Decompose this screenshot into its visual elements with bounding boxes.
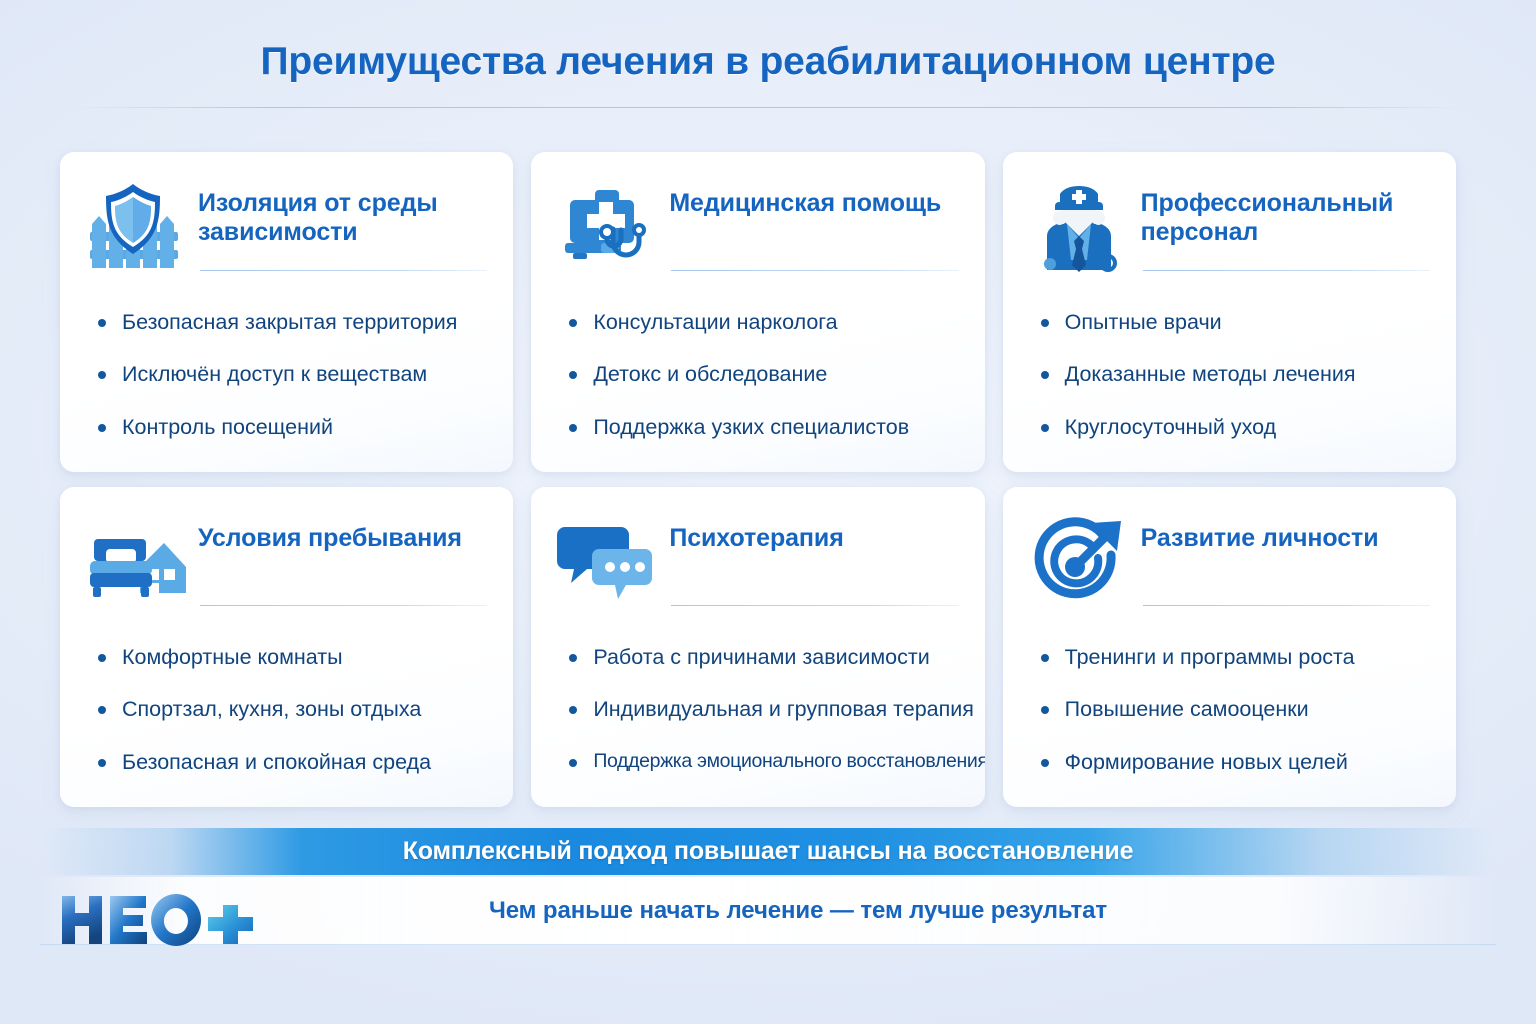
list-item-label: Круглосуточный уход — [1065, 415, 1277, 439]
bed-house-icon — [86, 515, 186, 609]
list-item-label: Повышение самооценки — [1065, 697, 1309, 721]
bullet-dot — [569, 706, 577, 714]
bullet-dot — [98, 759, 106, 767]
list-item-label: Опытные врачи — [1065, 310, 1222, 334]
list-item: Тренинги и программы роста — [1041, 645, 1430, 670]
list-item: Контроль посещений — [98, 415, 487, 440]
list-item-label: Исключён доступ к веществам — [122, 362, 427, 386]
shield-fence-icon — [86, 180, 186, 274]
list-item-label: Безопасная закрытая территория — [122, 310, 457, 334]
list-item: Опытные врачи — [1041, 310, 1430, 335]
list-item: Детокс и обследование — [569, 362, 958, 387]
card-title: Изоляция от среды зависимости — [198, 180, 487, 248]
list-item-label: Спортзал, кухня, зоны отдыха — [122, 697, 421, 721]
page-title: Преимущества лечения в реабилитационном … — [0, 0, 1536, 84]
benefit-card-living-conditions[interactable]: Условия пребывания Комфортные комнаты Сп… — [60, 487, 513, 807]
card-title: Профессиональный персонал — [1141, 180, 1430, 248]
benefit-card-psychotherapy[interactable]: Психотерапия Работа с причинами зависимо… — [531, 487, 984, 807]
card-header: Развитие личности — [1029, 515, 1430, 609]
card-divider — [671, 270, 958, 271]
speech-bubbles-icon — [557, 515, 657, 609]
list-item-label: Поддержка эмоционального восстановления — [593, 750, 984, 772]
list-item: Доказанные методы лечения — [1041, 362, 1430, 387]
bullet-dot — [1041, 759, 1049, 767]
bullet-dot — [98, 371, 106, 379]
list-item: Комфортные комнаты — [98, 645, 487, 670]
list-item-label: Комфортные комнаты — [122, 645, 343, 669]
benefit-list: Работа с причинами зависимости Индивидуа… — [557, 645, 958, 773]
card-divider — [671, 605, 958, 606]
list-item: Безопасная закрытая территория — [98, 310, 487, 335]
list-item-label: Работа с причинами зависимости — [593, 645, 929, 669]
benefit-list: Комфортные комнаты Спортзал, кухня, зоны… — [86, 645, 487, 775]
bullet-dot — [1041, 706, 1049, 714]
list-item-label: Поддержка узких специалистов — [593, 415, 909, 439]
card-header: Изоляция от среды зависимости — [86, 180, 487, 274]
list-item-label: Безопасная и спокойная среда — [122, 750, 431, 774]
benefit-list: Тренинги и программы роста Повышение сам… — [1029, 645, 1430, 775]
bullet-dot — [569, 654, 577, 662]
benefits-grid: Изоляция от среды зависимости Безопасная… — [60, 152, 1456, 807]
list-item: Поддержка узких специалистов — [569, 415, 958, 440]
bullet-dot — [98, 706, 106, 714]
card-title: Психотерапия — [669, 515, 843, 553]
bullet-dot — [569, 424, 577, 432]
bullet-dot — [98, 654, 106, 662]
list-item: Исключён доступ к веществам — [98, 362, 487, 387]
list-item-label: Консультации нарколога — [593, 310, 837, 334]
card-header: Психотерапия — [557, 515, 958, 609]
title-divider — [72, 107, 1464, 108]
list-item: Формирование новых целей — [1041, 750, 1430, 775]
list-item: Индивидуальная и групповая терапия — [569, 697, 958, 722]
list-item-label: Детокс и обследование — [593, 362, 827, 386]
benefit-list: Опытные врачи Доказанные методы лечения … — [1029, 310, 1430, 440]
list-item: Работа с причинами зависимости — [569, 645, 958, 670]
footer-banner: Комплексный подход повышает шансы на вос… — [40, 828, 1496, 875]
list-item: Круглосуточный уход — [1041, 415, 1430, 440]
neo-plus-logo — [58, 892, 258, 948]
medical-kit-stethoscope-icon — [557, 180, 657, 274]
benefit-card-professional-staff[interactable]: Профессиональный персонал Опытные врачи … — [1003, 152, 1456, 472]
bullet-dot — [1041, 424, 1049, 432]
benefit-list: Безопасная закрытая территория Исключён … — [86, 310, 487, 440]
benefit-card-personal-growth[interactable]: Развитие личности Тренинги и программы р… — [1003, 487, 1456, 807]
card-header: Медицинская помощь — [557, 180, 958, 274]
list-item-label: Доказанные методы лечения — [1065, 362, 1356, 386]
card-title: Развитие личности — [1141, 515, 1379, 553]
bullet-dot — [1041, 654, 1049, 662]
bullet-dot — [569, 759, 577, 767]
card-divider — [200, 605, 487, 606]
list-item-label: Формирование новых целей — [1065, 750, 1348, 774]
list-item: Спортзал, кухня, зоны отдыха — [98, 697, 487, 722]
card-header: Условия пребывания — [86, 515, 487, 609]
target-arrow-icon — [1029, 515, 1129, 609]
list-item-label: Контроль посещений — [122, 415, 333, 439]
list-item-label: Тренинги и программы роста — [1065, 645, 1355, 669]
bullet-dot — [569, 319, 577, 327]
list-item: Поддержка эмоционального восстановления — [569, 750, 958, 773]
card-divider — [200, 270, 487, 271]
card-title: Условия пребывания — [198, 515, 462, 553]
bullet-dot — [1041, 319, 1049, 327]
benefit-list: Консультации нарколога Детокс и обследов… — [557, 310, 958, 440]
bullet-dot — [98, 319, 106, 327]
card-title: Медицинская помощь — [669, 180, 941, 218]
card-header: Профессиональный персонал — [1029, 180, 1430, 274]
bullet-dot — [98, 424, 106, 432]
bullet-dot — [1041, 371, 1049, 379]
benefit-card-isolation[interactable]: Изоляция от среды зависимости Безопасная… — [60, 152, 513, 472]
benefit-card-medical-help[interactable]: Медицинская помощь Консультации нарколог… — [531, 152, 984, 472]
footer-banner-text: Комплексный подход повышает шансы на вос… — [403, 837, 1134, 866]
list-item: Повышение самооценки — [1041, 697, 1430, 722]
list-item: Безопасная и спокойная среда — [98, 750, 487, 775]
bullet-dot — [569, 371, 577, 379]
footer: Комплексный подход повышает шансы на вос… — [0, 820, 1536, 970]
card-divider — [1143, 605, 1430, 606]
list-item: Консультации нарколога — [569, 310, 958, 335]
doctor-icon — [1029, 180, 1129, 274]
card-divider — [1143, 270, 1430, 271]
list-item-label: Индивидуальная и групповая терапия — [593, 697, 974, 721]
